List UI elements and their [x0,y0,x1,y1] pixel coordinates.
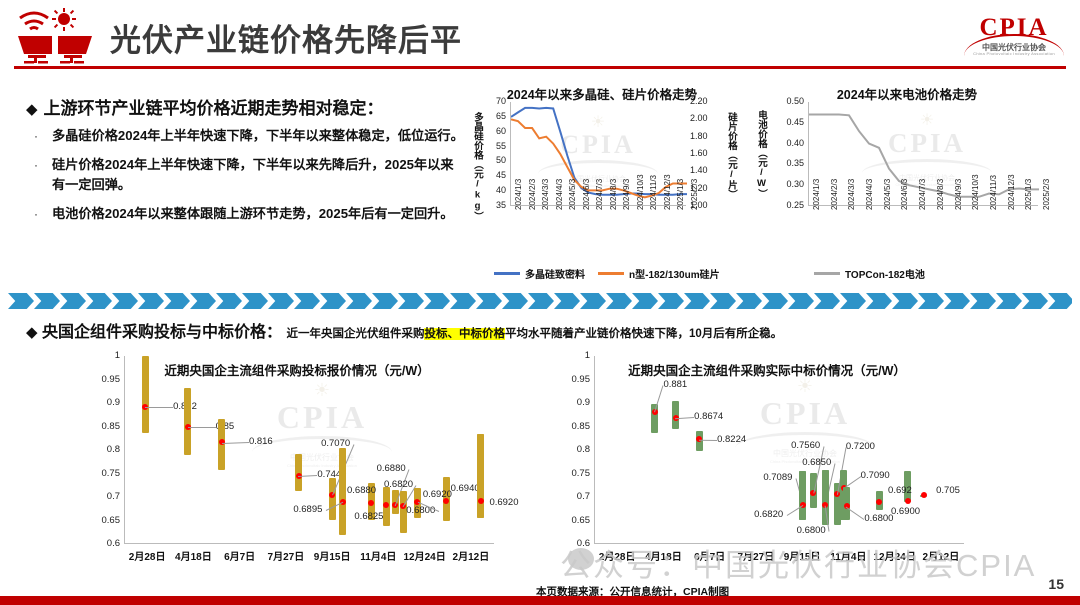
x-tick-label: 11月4日 [352,548,404,563]
y-tick-label: 45 [482,170,506,180]
section2-heading: ◆ 央国企组件采购投标与中标价格： 近一年央国企光伏组件采购投标、中标价格平均水… [26,318,782,342]
section2-sub-post: 平均水平随着产业链价格快速下降，10月后有所企稳。 [505,328,782,340]
y-tick-label: 0.7 [92,491,120,502]
y-tick-label: 0.40 [774,138,804,148]
data-label: 0.7200 [846,441,875,452]
x-tick-label: 6月7日 [214,548,266,563]
label-leader-line [699,439,717,440]
list-item: · 硅片价格2024年上半年快速下降，下半年以来先降后升，2025年以来有一定回… [34,155,464,195]
section1-heading-text: 上游环节产业链平均价格近期走势相对稳定： [44,99,384,118]
y2-tick-label: 1.80 [690,131,716,141]
page-number: 15 [1048,576,1064,592]
chevron-right-icon [346,293,372,309]
chart-legend: 多晶硅致密料 n型-182/130um硅片 [494,266,720,281]
chevron-right-icon [840,293,866,309]
legend-label-wafer: n型-182/130um硅片 [629,266,720,281]
dot-bullet-icon: · [34,126,52,146]
chevron-right-icon [814,293,840,309]
data-label: 0.8674 [694,411,723,422]
section1-bullet-list: · 多晶硅价格2024年上半年快速下降，下半年以来整体稳定，低位运行。 · 硅片… [34,126,464,233]
chevron-right-icon [502,293,528,309]
chart-poly-wafer-price: 2024年以来多晶硅、硅片价格走势 多晶硅价格（元/kg） 硅片价格（元/片） … [468,84,736,289]
x-tick-label: 2024/9/3 [954,179,963,210]
chart-bid-price: 近期央国企主流组件采购投标报价情况（元/W） 0.60.650.70.750.8… [92,352,502,577]
data-label: 0.6880 [377,463,406,474]
x-tick-label: 2024/11/3 [989,175,998,210]
chevron-right-icon [606,293,632,309]
data-label: 0.7560 [791,440,820,451]
section-divider-chevrons [8,293,1072,309]
data-label: 0.816 [249,436,273,447]
data-label: 0.6895 [293,504,322,515]
range-bar [142,356,149,433]
x-tick-label: 7月27日 [260,548,312,563]
chevron-right-icon [762,293,788,309]
data-point [876,499,882,505]
watermark-wechat-account: 公众号：中国光伏行业协会CPIA [560,540,1036,585]
chevron-right-icon [86,293,112,309]
legend-label-topcon: TOPCon-182电池 [845,266,925,281]
y-tick-label: 0.95 [92,374,120,385]
x-tick-label: 2024/4/3 [555,179,564,210]
y-tick-label: 0.30 [774,179,804,189]
label-leader-line [145,407,173,408]
watermark-cpia: ☀ CPIA 中国光伏行业协会 China Photovoltaic Indus… [247,380,397,468]
data-point [921,492,927,498]
list-item-label: 硅片价格2024年上半年快速下降，下半年以来先降后升，2025年以来有一定回弹。 [52,155,464,195]
dot-bullet-icon: · [34,155,52,195]
y-tick-label: 1 [92,350,120,361]
chevron-right-icon [788,293,814,309]
data-label: 0.6800 [864,513,893,524]
chevron-right-icon [242,293,268,309]
chevron-right-icon [658,293,684,309]
data-point [905,498,911,504]
data-label: 0.6920 [423,489,452,500]
chevron-right-icon [398,293,424,309]
chevron-right-icon [60,293,86,309]
x-tick-label: 2024/6/3 [900,179,909,210]
chevron-right-icon [8,293,34,309]
x-tick-label: 2025/1/3 [676,179,685,210]
y-tick-label: 0.9 [92,397,120,408]
chevron-right-icon [372,293,398,309]
chevron-right-icon [450,293,476,309]
y-tick-label: 0.75 [562,468,590,479]
chevron-right-icon [866,293,892,309]
x-tick-label: 2024/3/3 [847,179,856,210]
list-item: · 电池价格2024年以来整体跟随上游环节走势，2025年后有一定回升。 [34,204,464,224]
x-tick-label: 2024/10/3 [971,174,980,210]
y-tick-label: 70 [482,96,506,106]
chart-plot-area: ☀ CPIA 中国光伏行业协会 China Photovoltaic Indus… [594,356,964,544]
label-leader-line [676,417,695,419]
chevron-right-icon [684,293,710,309]
solar-panel-icon [14,8,98,66]
chevron-right-icon [216,293,242,309]
x-tick-label: 2024/12/3 [663,174,672,210]
chevron-right-icon [268,293,294,309]
data-label: 0.692 [888,485,912,496]
chart-y2-axis-label: 硅片价格（元/片） [724,112,738,217]
data-label: 0.7089 [763,472,792,483]
section2-sub-highlight: 投标、中标价格 [424,328,505,340]
x-tick-label: 2024/5/3 [568,179,577,210]
chevron-right-icon [944,293,970,309]
header-divider-rule [14,66,1066,69]
y-tick-label: 0.25 [774,200,804,210]
page-title: 光伏产业链价格先降后平 [110,15,462,60]
x-tick-label: 2024/12/3 [1007,174,1016,210]
legend-label-polysilicon: 多晶硅致密料 [525,266,585,281]
chevron-right-icon [112,293,138,309]
range-bar [329,478,336,519]
chevron-right-icon [632,293,658,309]
y-tick-label: 1 [562,350,590,361]
chevron-right-icon [138,293,164,309]
x-tick-label: 2024/5/3 [883,179,892,210]
x-tick-label: 2024/4/3 [865,179,874,210]
chevron-right-icon [736,293,762,309]
range-bar [477,434,484,517]
x-tick-label: 2024/7/3 [595,179,604,210]
data-point [478,498,484,504]
y-tick-label: 60 [482,126,506,136]
x-tick-label: 2024/6/3 [582,179,591,210]
legend-swatch-wafer [598,272,624,275]
slide: 光伏产业链价格先降后平 CPIA 中国光伏行业协会 China Photovol… [0,0,1080,605]
y-tick-label: 0.85 [92,421,120,432]
y-tick-label: 35 [482,200,506,210]
chevron-right-icon [580,293,606,309]
x-tick-label: 2024/2/3 [528,179,537,210]
list-item-label: 电池价格2024年以来整体跟随上游环节走势，2025年后有一定回升。 [52,204,454,224]
x-tick-label: 12月24日 [399,548,451,563]
footer-bar [0,596,1080,605]
x-tick-label: 2025/1/3 [1024,179,1033,210]
chevron-right-icon [34,293,60,309]
y-tick-label: 0.50 [774,96,804,106]
data-label: 0.6850 [802,457,831,468]
y-tick-label: 0.65 [92,515,120,526]
y-tick-label: 0.85 [562,421,590,432]
data-label: 0.8224 [717,434,746,445]
list-item: · 多晶硅价格2024年上半年快速下降，下半年以来整体稳定，低位运行。 [34,126,464,146]
chevron-right-icon [1048,293,1072,309]
chart-legend: TOPCon-182电池 [814,266,925,281]
x-tick-label: 4月18日 [167,548,219,563]
diamond-bullet-icon: ◆ [26,101,38,118]
range-bar [822,470,829,525]
x-tick-label: 2024/9/3 [622,179,631,210]
data-label: 0.6820 [384,479,413,490]
section2-sub-pre: 近一年央国企光伏组件采购 [286,328,424,340]
chevron-right-icon [294,293,320,309]
x-tick-label: 2025/2/3 [1042,179,1051,210]
list-item-label: 多晶硅价格2024年上半年快速下降，下半年以来整体稳定，低位运行。 [52,126,464,146]
x-tick-label: 2024/11/3 [649,175,658,210]
x-tick-label: 2024/8/3 [609,179,618,210]
y-tick-label: 0.6 [92,538,120,549]
data-label: 0.705 [936,485,960,496]
x-tick-label: 2024/3/3 [541,179,550,210]
y2-tick-label: 1.40 [690,165,716,175]
label-leader-line [188,427,216,428]
label-leader-line [222,442,249,444]
chevron-right-icon [892,293,918,309]
y-tick-label: 0.8 [92,444,120,455]
chevron-right-icon [424,293,450,309]
dot-bullet-icon: · [34,204,52,224]
chart-plot-area: ☀ CPIA 中国光伏行业协会 China Photovoltaic Indus… [124,356,494,544]
y2-tick-label: 2.00 [690,113,716,123]
chart-y-axis-label: 电池价格（元/W） [754,110,768,215]
range-bar [184,388,191,455]
x-tick-label: 2024/1/3 [514,179,523,210]
y-tick-label: 0.9 [562,397,590,408]
data-label: 0.6800 [797,525,826,536]
chevron-right-icon [190,293,216,309]
legend-swatch-topcon [814,272,840,275]
data-label: 0.881 [663,379,687,390]
chevron-right-icon [996,293,1022,309]
chevron-right-icon [164,293,190,309]
data-label: 0.6820 [754,509,783,520]
data-label: 0.6880 [347,485,376,496]
chevron-right-icon [554,293,580,309]
y-tick-label: 55 [482,141,506,151]
chevron-right-icon [918,293,944,309]
data-label: 0.6900 [891,506,920,517]
y-tick-label: 0.35 [774,158,804,168]
section1-heading: ◆上游环节产业链平均价格近期走势相对稳定： [26,94,384,119]
data-label: 0.6940 [451,483,480,494]
chevron-right-icon [1022,293,1048,309]
y-tick-label: 40 [482,185,506,195]
y-tick-label: 65 [482,111,506,121]
chevron-right-icon [710,293,736,309]
x-tick-label: 2024/7/3 [918,179,927,210]
legend-swatch-polysilicon [494,272,520,275]
y2-tick-label: 1.60 [690,148,716,158]
x-tick-label: 2025/2/3 [690,179,699,210]
data-label: 0.6825 [354,511,383,522]
data-label: 0.7090 [861,470,890,481]
y-tick-label: 0.8 [562,444,590,455]
x-tick-label: 9月15日 [306,548,358,563]
y-tick-label: 0.95 [562,374,590,385]
y-tick-label: 50 [482,155,506,165]
x-tick-label: 2024/8/3 [936,179,945,210]
x-tick-label: 2024/10/3 [636,174,645,210]
y-tick-label: 0.75 [92,468,120,479]
range-bar [799,471,806,519]
y-tick-label: 0.45 [774,117,804,127]
chevron-right-icon [970,293,996,309]
cpia-logo: CPIA 中国光伏行业协会 China Photovoltaic Industr… [958,4,1070,62]
chevron-right-icon [476,293,502,309]
chevron-right-icon [320,293,346,309]
chart-cell-price: 2024年以来电池价格走势 电池价格（元/W） 0.250.300.350.40… [742,84,1072,289]
data-label: 0.6920 [489,497,518,508]
x-tick-label: 2024/1/3 [812,179,821,210]
x-tick-label: 2024/2/3 [830,179,839,210]
chevron-right-icon [528,293,554,309]
y-tick-label: 0.7 [562,491,590,502]
diamond-bullet-icon: ◆ [26,324,38,341]
x-tick-label: 2月28日 [121,548,173,563]
x-tick-label: 2月12日 [445,548,497,563]
section2-heading-text: 央国企组件采购投标与中标价格： [42,324,282,341]
y2-tick-label: 2.20 [690,96,716,106]
cpia-logo-en: China Photovoltaic Industry Association [958,51,1070,56]
y-tick-label: 0.65 [562,515,590,526]
range-bar [339,448,346,535]
data-point [368,500,374,506]
